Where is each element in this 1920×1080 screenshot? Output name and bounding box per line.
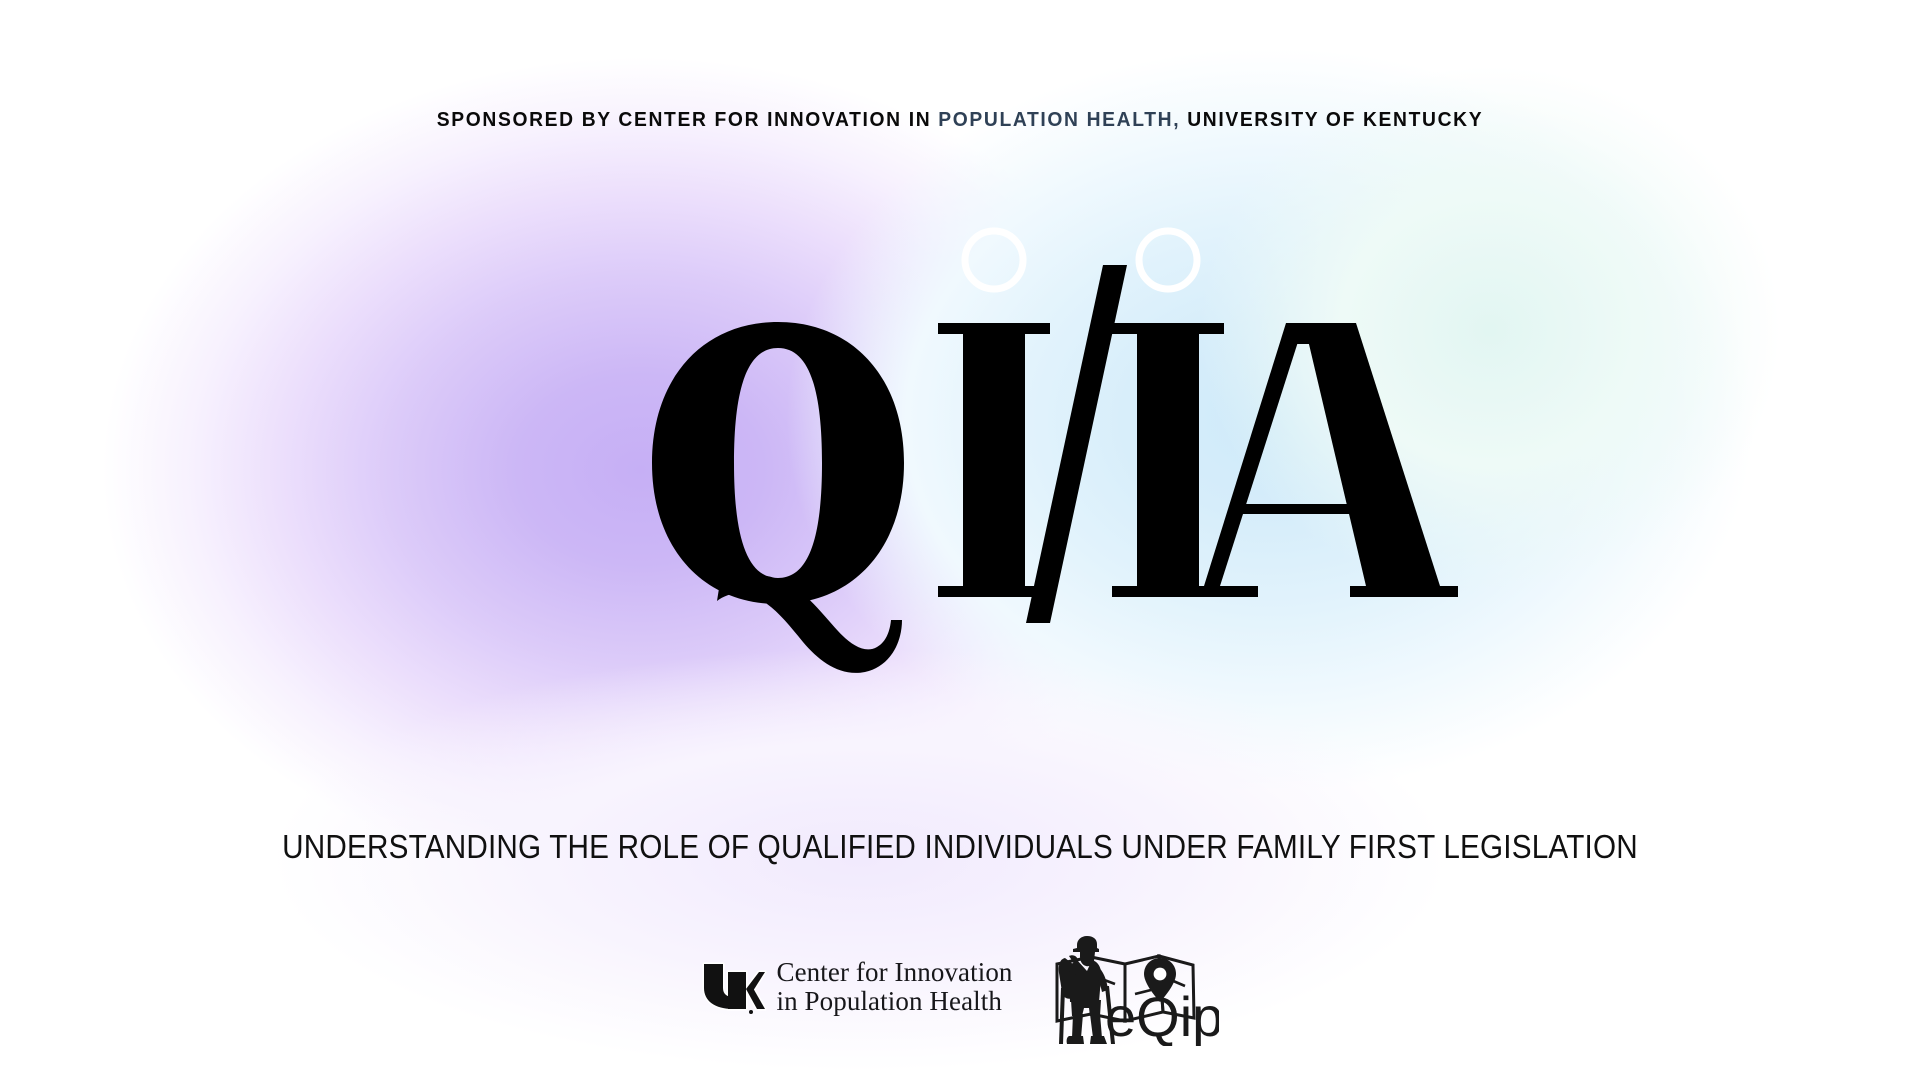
uk-cph-line1: Center for Innovation	[776, 958, 1012, 987]
qiia-logotype	[0, 282, 1920, 712]
logotype-letter-a	[1184, 323, 1458, 597]
logotype-letter-i-1	[938, 323, 1050, 597]
logotype-letter-i-2	[1112, 323, 1224, 597]
subtitle: UNDERSTANDING THE ROLE OF QUALIFIED INDI…	[96, 828, 1824, 866]
logotype-letter-q	[652, 322, 904, 673]
sponsor-segment-accent: POPULATION HEALTH,	[938, 108, 1180, 131]
sponsor-line: SPONSORED BY CENTER FOR INNOVATION IN PO…	[58, 108, 1863, 132]
eqip-hiker-map-icon: eQip	[1047, 928, 1219, 1046]
sponsor-segment-3: UNIVERSITY OF KENTUCKY	[1180, 108, 1483, 131]
logotype-slash	[1026, 265, 1127, 623]
uk-center-for-innovation-logo: Center for Innovation in Population Heal…	[701, 958, 1012, 1016]
uk-cph-wordmark: Center for Innovation in Population Heal…	[776, 958, 1012, 1016]
logotype-dot-ring-2	[1139, 231, 1197, 289]
eqip-logo: eQip	[1047, 928, 1219, 1046]
footer-logos: Center for Innovation in Population Heal…	[0, 922, 1920, 1052]
title-slide: SPONSORED BY CENTER FOR INNOVATION IN PO…	[0, 0, 1920, 1080]
uk-cph-line2: in Population Health	[776, 987, 1012, 1016]
eqip-wordmark: eQip	[1105, 985, 1219, 1046]
sponsor-segment-1: SPONSORED BY CENTER FOR INNOVATION IN	[437, 108, 938, 131]
uk-monogram-icon	[701, 958, 767, 1016]
logotype-dot-ring-1	[965, 231, 1023, 289]
